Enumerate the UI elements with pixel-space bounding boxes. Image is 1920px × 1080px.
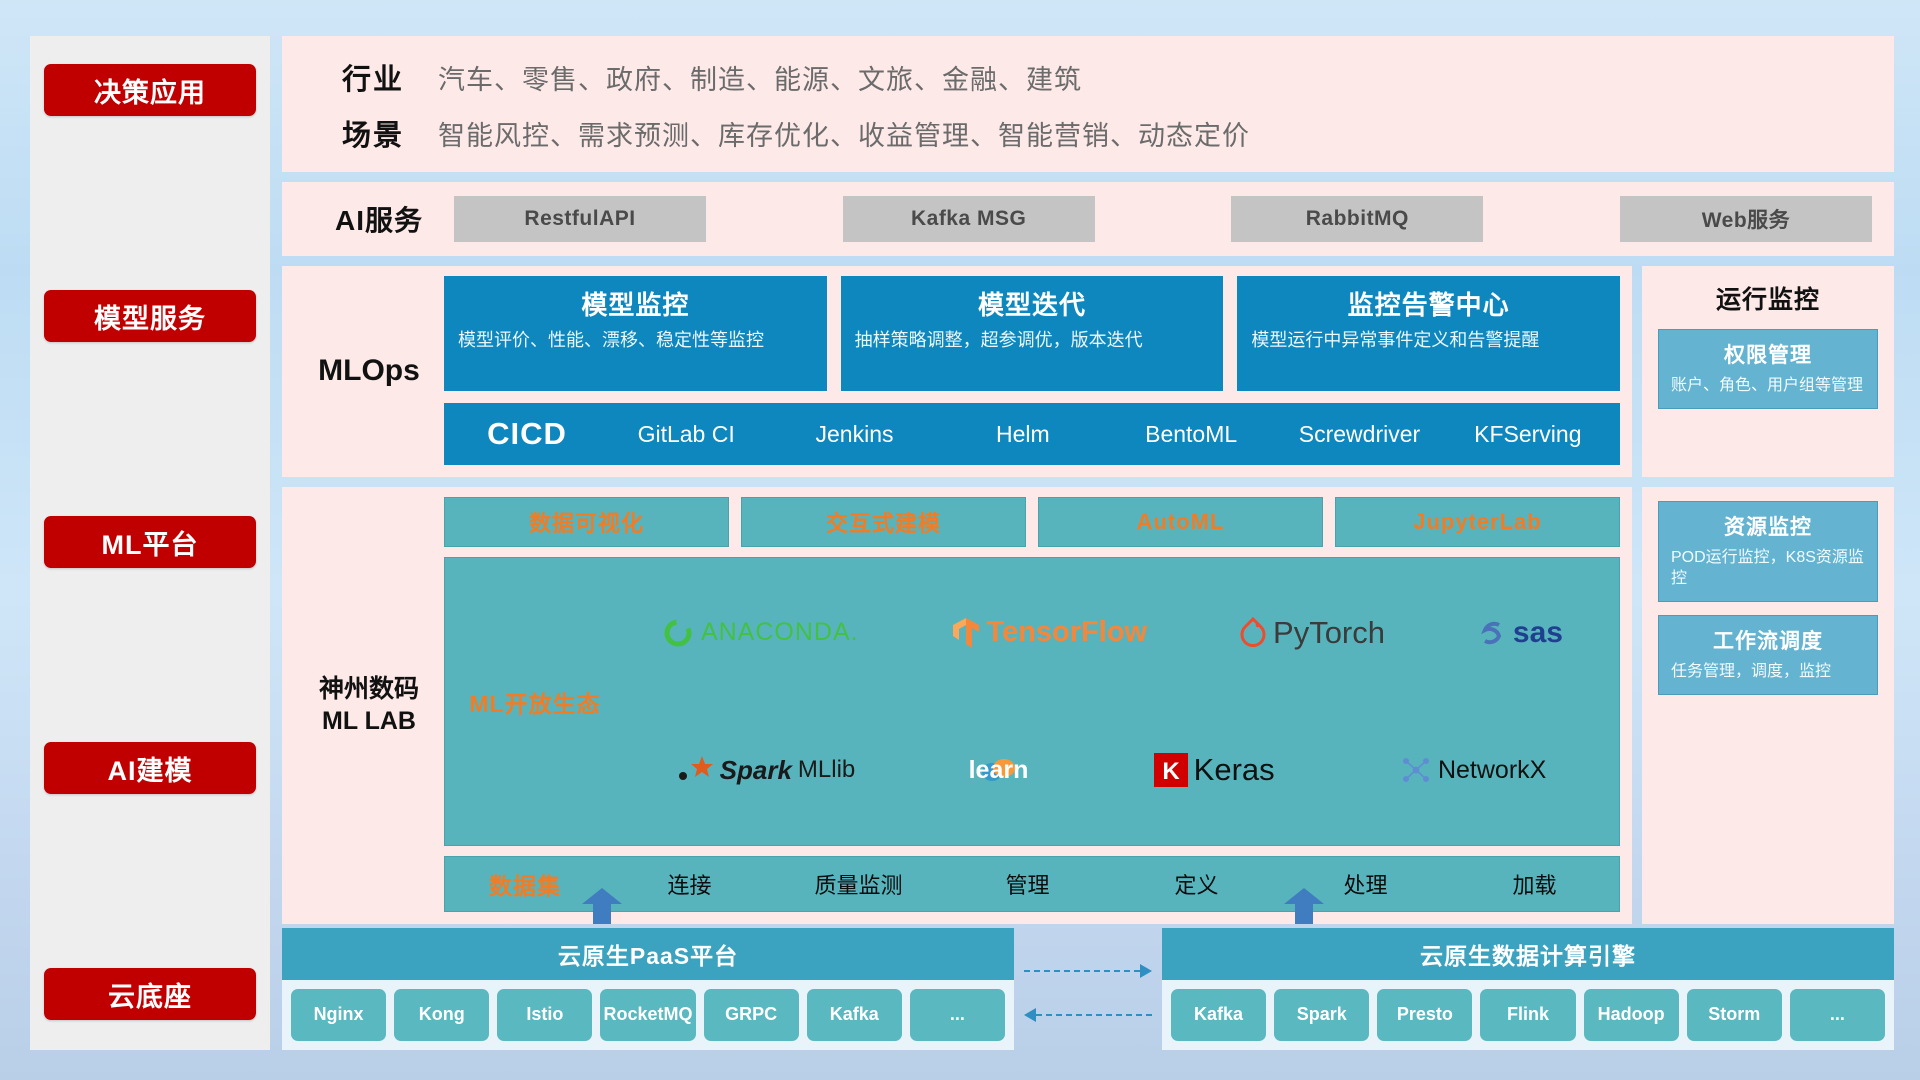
runtime-monitor-panel-lower: 资源监控 POD运行监控，K8S资源监控 工作流调度 任务管理，调度，监控	[1642, 487, 1894, 924]
service-chip-restfulapi[interactable]: RestfulAPI	[454, 196, 706, 242]
anaconda-logo-text: ANACONDA.	[701, 618, 859, 647]
mlops-card-model-iteration[interactable]: 模型迭代 抽样策略调整，超参调优，版本迭代	[841, 276, 1224, 391]
ml-lab-label: 神州数码 ML LAB	[294, 497, 444, 912]
monitor-card-resource[interactable]: 资源监控 POD运行监控，K8S资源监控	[1658, 501, 1878, 602]
card-title: 工作流调度	[1671, 625, 1865, 655]
keras-logo-text: Keras	[1194, 752, 1275, 788]
mlops-main: MLOps 模型监控 模型评价、性能、漂移、稳定性等监控 模型迭代 抽样策略调整…	[282, 266, 1632, 477]
content-column: 行业 汽车、零售、政府、制造、能源、文旅、金融、建筑 场景 智能风控、需求预测、…	[282, 36, 1894, 1050]
card-desc: 模型运行中异常事件定义和告警提醒	[1251, 329, 1606, 353]
paas-chip-kafka[interactable]: Kafka	[807, 989, 902, 1041]
ml-lab-label-line2: ML LAB	[322, 705, 416, 737]
mlops-section: MLOps 模型监控 模型评价、性能、漂移、稳定性等监控 模型迭代 抽样策略调整…	[282, 266, 1894, 477]
cicd-item-gitlab-ci[interactable]: GitLab CI	[602, 422, 770, 446]
engine-chip-storm[interactable]: Storm	[1687, 989, 1782, 1041]
pytorch-logo-text: PyTorch	[1273, 615, 1385, 651]
rail-btn-cloud-base[interactable]: 云底座	[44, 968, 256, 1020]
cicd-item-kfserving[interactable]: KFServing	[1444, 422, 1612, 446]
card-desc: 任务管理，调度，监控	[1671, 661, 1865, 682]
spark-logo-text: Spark	[720, 755, 792, 786]
engine-chip-list: Kafka Spark Presto Flink Hadoop Storm ..…	[1162, 980, 1894, 1050]
paas-chip-rocketmq[interactable]: RocketMQ	[600, 989, 695, 1041]
card-title: 模型迭代	[855, 285, 1210, 322]
dataset-item-quality[interactable]: 质量监测	[774, 868, 943, 900]
dataset-item-load[interactable]: 加载	[1450, 868, 1619, 900]
rail-btn-decision-app[interactable]: 决策应用	[44, 64, 256, 116]
tensorflow-logo-text: TensorFlow	[987, 616, 1148, 649]
card-title: 权限管理	[1671, 339, 1865, 369]
pytorch-logo: PyTorch	[1239, 615, 1385, 651]
paas-chip-nginx[interactable]: Nginx	[291, 989, 386, 1041]
divider-2	[282, 256, 1894, 266]
paas-chip-more[interactable]: ...	[910, 989, 1005, 1041]
keras-logo: K Keras	[1154, 752, 1275, 788]
ml-ecosystem-label: ML开放生态	[455, 685, 615, 719]
scenario-row: 场景 智能风控、需求预测、库存优化、收益管理、智能营销、动态定价	[308, 112, 1868, 154]
runtime-monitor-title: 运行监控	[1658, 280, 1878, 316]
paas-chip-kong[interactable]: Kong	[394, 989, 489, 1041]
engine-title: 云原生数据计算引擎	[1162, 928, 1894, 980]
engine-chip-hadoop[interactable]: Hadoop	[1584, 989, 1679, 1041]
industry-row: 行业 汽车、零售、政府、制造、能源、文旅、金融、建筑	[308, 56, 1868, 98]
dataset-item-define[interactable]: 定义	[1112, 868, 1281, 900]
rail-label: 云底座	[108, 975, 192, 1014]
cicd-title: CICD	[452, 416, 602, 452]
cicd-item-list: GitLab CI Jenkins Helm BentoML Screwdriv…	[602, 422, 1612, 446]
card-title: 模型监控	[458, 285, 813, 322]
card-desc: POD运行监控，K8S资源监控	[1671, 547, 1865, 589]
tab-jupyterlab[interactable]: JupyterLab	[1335, 497, 1620, 547]
diagram-root: 决策应用 模型服务 ML平台 AI建模 云底座 行业 汽车、零售、政府、制造、能…	[0, 0, 1920, 1080]
card-title: 监控告警中心	[1251, 285, 1606, 322]
paas-platform: 云原生PaaS平台 Nginx Kong Istio RocketMQ GRPC…	[282, 928, 1014, 1050]
rail-label: 决策应用	[94, 71, 206, 110]
monitor-card-permission[interactable]: 权限管理 账户、角色、用户组等管理	[1658, 329, 1878, 409]
cicd-item-helm[interactable]: Helm	[939, 422, 1107, 446]
card-desc: 账户、角色、用户组等管理	[1671, 375, 1865, 396]
card-title: 资源监控	[1671, 511, 1865, 541]
mllib-logo-text: MLlib	[798, 756, 855, 784]
svg-text:K: K	[1162, 758, 1180, 785]
scikit-learn-logo: learn	[981, 755, 1029, 785]
mlops-label: MLOps	[294, 276, 444, 465]
service-chip-rabbitmq[interactable]: RabbitMQ	[1231, 196, 1483, 242]
engine-chip-flink[interactable]: Flink	[1480, 989, 1575, 1041]
scenario-value: 智能风控、需求预测、库存优化、收益管理、智能营销、动态定价	[438, 114, 1250, 153]
mlops-card-model-monitor[interactable]: 模型监控 模型评价、性能、漂移、稳定性等监控	[444, 276, 827, 391]
engine-chip-kafka[interactable]: Kafka	[1171, 989, 1266, 1041]
cloud-foundation-section: 云原生PaaS平台 Nginx Kong Istio RocketMQ GRPC…	[282, 924, 1894, 1050]
anaconda-logo: ANACONDA.	[661, 616, 859, 650]
networkx-logo: NetworkX	[1400, 755, 1546, 785]
networkx-logo-text: NetworkX	[1438, 756, 1546, 785]
rail-btn-ai-modeling[interactable]: AI建模	[44, 742, 256, 794]
dataset-item-connect[interactable]: 连接	[605, 868, 774, 900]
engine-chip-more[interactable]: ...	[1790, 989, 1885, 1041]
tab-data-visualization[interactable]: 数据可视化	[444, 497, 729, 547]
rail-label: ML平台	[102, 523, 199, 562]
card-desc: 抽样策略调整，超参调优，版本迭代	[855, 329, 1210, 353]
rail-btn-model-service[interactable]: 模型服务	[44, 290, 256, 342]
arrow-right-icon	[1024, 962, 1152, 980]
divider-1	[282, 172, 1894, 182]
rail-label: AI建模	[108, 749, 193, 788]
engine-chip-spark[interactable]: Spark	[1274, 989, 1369, 1041]
sas-logo-text: sas	[1513, 616, 1563, 650]
mlops-column: 模型监控 模型评价、性能、漂移、稳定性等监控 模型迭代 抽样策略调整，超参调优，…	[444, 276, 1620, 465]
ml-open-ecosystem: ML开放生态 ANACONDA. TensorFlow	[444, 557, 1620, 846]
service-chip-kafka-msg[interactable]: Kafka MSG	[843, 196, 1095, 242]
paas-title: 云原生PaaS平台	[282, 928, 1014, 980]
paas-chip-list: Nginx Kong Istio RocketMQ GRPC Kafka ...	[282, 980, 1014, 1050]
cicd-item-screwdriver[interactable]: Screwdriver	[1275, 422, 1443, 446]
rail-label: 模型服务	[94, 297, 206, 336]
ai-service-chip-list: RestfulAPI Kafka MSG RabbitMQ Web服务	[454, 196, 1872, 242]
sas-logo: sas	[1477, 616, 1563, 650]
up-arrow-paas-icon	[582, 888, 622, 924]
rail-btn-ml-platform[interactable]: ML平台	[44, 516, 256, 568]
arrow-left-icon	[1024, 1006, 1152, 1024]
mlops-card-list: 模型监控 模型评价、性能、漂移、稳定性等监控 模型迭代 抽样策略调整，超参调优，…	[444, 276, 1620, 391]
spark-mllib-logo: Spark MLlib	[678, 755, 856, 786]
service-chip-web[interactable]: Web服务	[1620, 196, 1872, 242]
cicd-item-bentoml[interactable]: BentoML	[1107, 422, 1275, 446]
monitor-card-workflow[interactable]: 工作流调度 任务管理，调度，监控	[1658, 615, 1878, 695]
divider-3	[282, 477, 1894, 487]
data-compute-engine: 云原生数据计算引擎 Kafka Spark Presto Flink Hadoo…	[1162, 928, 1894, 1050]
tab-interactive-modeling[interactable]: 交互式建模	[741, 497, 1026, 547]
ml-lab-section: 神州数码 ML LAB 数据可视化 交互式建模 AutoML JupyterLa…	[282, 487, 1894, 924]
scenario-key: 场景	[308, 112, 438, 154]
up-arrow-engine-icon	[1284, 888, 1324, 924]
card-desc: 模型评价、性能、漂移、稳定性等监控	[458, 329, 813, 353]
cicd-item-jenkins[interactable]: Jenkins	[770, 422, 938, 446]
cloud-link-arrows	[1014, 962, 1162, 1050]
ml-lab-column: 数据可视化 交互式建模 AutoML JupyterLab ML开放生态 ANA…	[444, 497, 1620, 912]
ecosystem-logo-row-1: ANACONDA. TensorFlow PyTorch	[615, 564, 1609, 702]
tensorflow-logo: TensorFlow	[951, 616, 1148, 650]
ecosystem-logo-grid: ANACONDA. TensorFlow PyTorch	[615, 564, 1609, 839]
industry-value: 汽车、零售、政府、制造、能源、文旅、金融、建筑	[438, 58, 1082, 97]
scikit-learn-logo-text: learn	[969, 756, 1029, 785]
paas-chip-istio[interactable]: Istio	[497, 989, 592, 1041]
industry-scenario-band: 行业 汽车、零售、政府、制造、能源、文旅、金融、建筑 场景 智能风控、需求预测、…	[282, 36, 1894, 172]
mlops-card-alert-center[interactable]: 监控告警中心 模型运行中异常事件定义和告警提醒	[1237, 276, 1620, 391]
ecosystem-logo-row-2: Spark MLlib learn K Keras	[615, 702, 1609, 840]
runtime-monitor-panel: 运行监控 权限管理 账户、角色、用户组等管理	[1642, 266, 1894, 477]
ml-lab-main: 神州数码 ML LAB 数据可视化 交互式建模 AutoML JupyterLa…	[282, 487, 1632, 924]
cicd-bar: CICD GitLab CI Jenkins Helm BentoML Scre…	[444, 403, 1620, 465]
engine-chip-presto[interactable]: Presto	[1377, 989, 1472, 1041]
ml-lab-tab-list: 数据可视化 交互式建模 AutoML JupyterLab	[444, 497, 1620, 547]
tab-automl[interactable]: AutoML	[1038, 497, 1323, 547]
dataset-label: 数据集	[445, 867, 605, 901]
ai-service-band: AI服务 RestfulAPI Kafka MSG RabbitMQ Web服务	[282, 182, 1894, 256]
industry-key: 行业	[308, 56, 438, 98]
ml-lab-label-line1: 神州数码	[319, 673, 419, 705]
paas-chip-grpc[interactable]: GRPC	[704, 989, 799, 1041]
ai-service-label: AI服务	[304, 199, 454, 239]
layer-rail: 决策应用 模型服务 ML平台 AI建模 云底座	[30, 36, 270, 1050]
dataset-item-manage[interactable]: 管理	[943, 868, 1112, 900]
